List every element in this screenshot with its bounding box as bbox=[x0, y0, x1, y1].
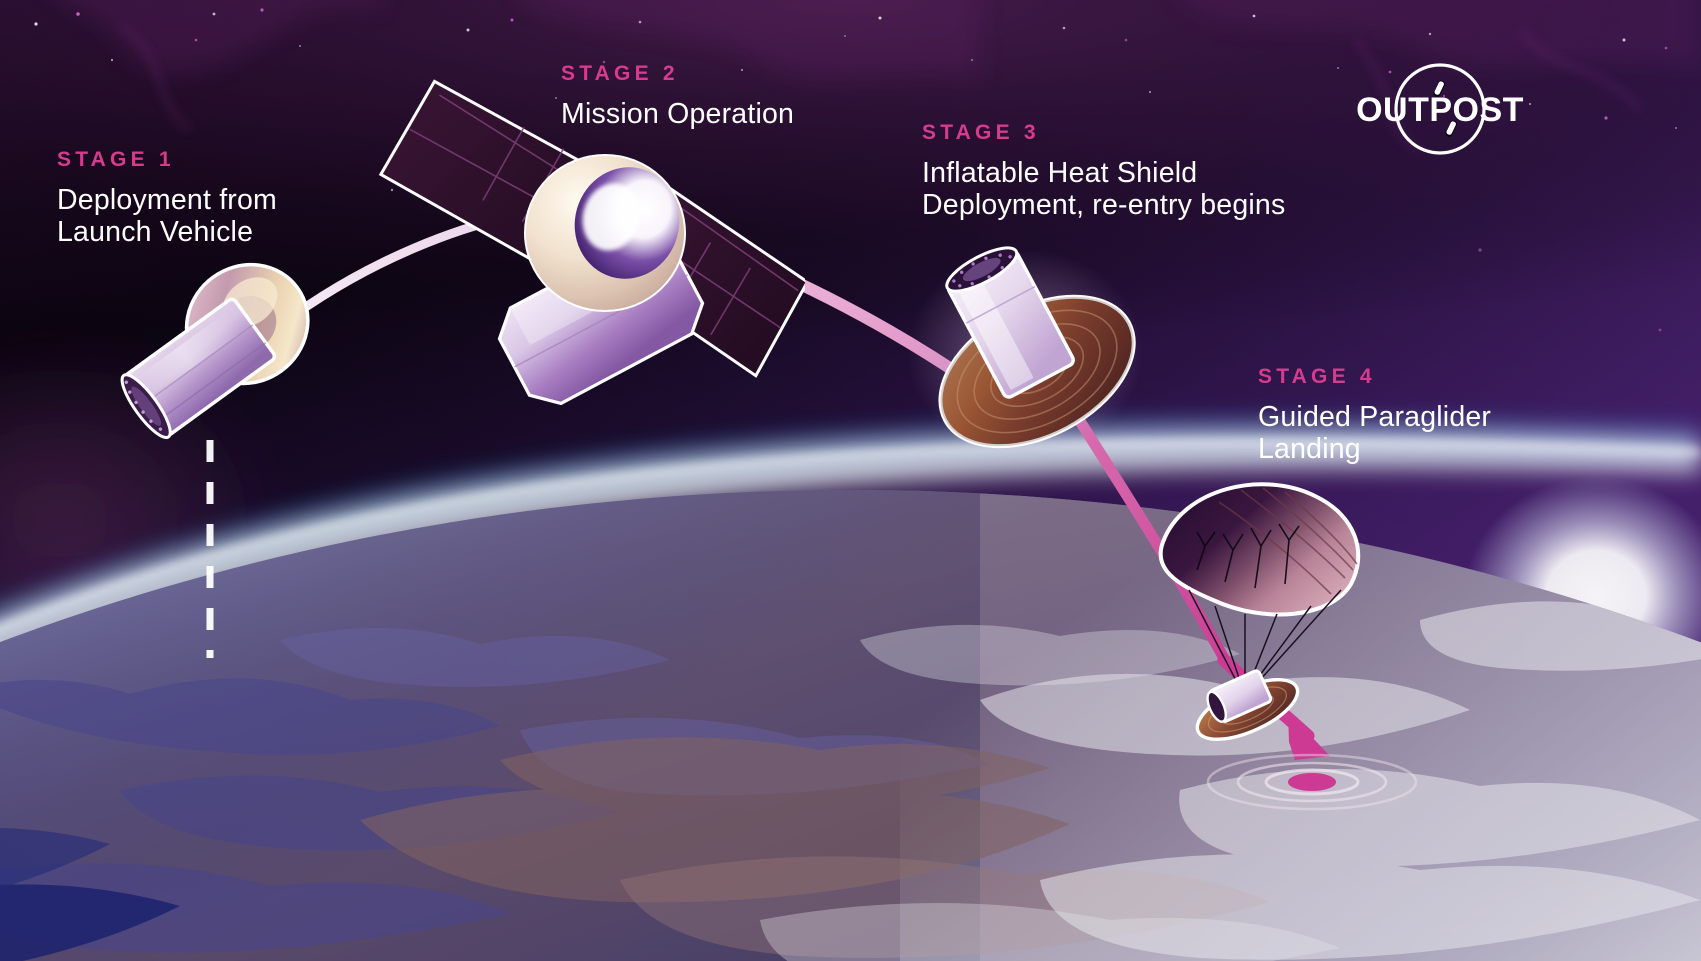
stage-1-illustration bbox=[100, 250, 360, 480]
landing-target-center bbox=[1288, 773, 1336, 791]
stage-3-label: STAGE 3 Inflatable Heat Shield Deploymen… bbox=[922, 122, 1285, 222]
stage-4-title: Guided Paraglider Landing bbox=[1258, 401, 1491, 466]
stage-4-label: STAGE 4 Guided Paraglider Landing bbox=[1258, 366, 1491, 466]
stage-1-title: Deployment from Launch Vehicle bbox=[57, 184, 277, 249]
outpost-wordmark: OUTPOST bbox=[1356, 91, 1524, 129]
stage-2-label: STAGE 2 Mission Operation bbox=[561, 63, 794, 130]
stage-4-kicker: STAGE 4 bbox=[1258, 366, 1491, 387]
stage-4-illustration bbox=[1145, 472, 1415, 742]
stage-2-kicker: STAGE 2 bbox=[561, 63, 794, 84]
stage-2-title: Mission Operation bbox=[561, 98, 794, 130]
stage-3-kicker: STAGE 3 bbox=[922, 122, 1285, 143]
stage-1-label: STAGE 1 Deployment from Launch Vehicle bbox=[57, 149, 277, 249]
stage-3-illustration bbox=[895, 235, 1155, 465]
outpost-logo[interactable]: OUTPOST bbox=[1352, 62, 1528, 156]
stage-3-title: Inflatable Heat Shield Deployment, re-en… bbox=[922, 157, 1285, 222]
infographic-canvas: STAGE 1 Deployment from Launch Vehicle S… bbox=[0, 0, 1701, 961]
stage-1-kicker: STAGE 1 bbox=[57, 149, 277, 170]
